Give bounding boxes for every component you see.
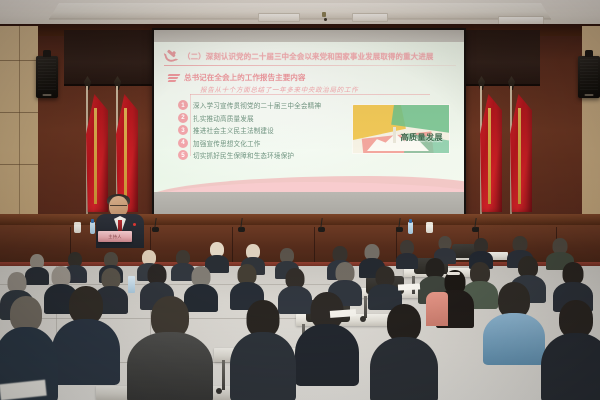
audience-member	[236, 300, 290, 400]
slide-illustration-label: 高质量发展	[401, 132, 444, 143]
tea-cup	[426, 224, 433, 233]
desk-leg	[222, 360, 225, 390]
ceiling-vent	[352, 13, 388, 22]
desk-caster	[360, 316, 366, 322]
audience-member	[548, 300, 600, 400]
ceiling-speck	[324, 18, 327, 21]
list-item-number: 2	[178, 113, 188, 123]
list-item-label: 深入学习宣传贯彻党的二十届三中全会精神	[193, 100, 321, 110]
list-item-label: 加强宣传思想文化工作	[193, 138, 260, 148]
nameplate: 主持人	[98, 231, 132, 242]
audience-member	[58, 286, 114, 382]
slide-note-rule	[190, 94, 430, 95]
list-item-label: 扎实推动高质量发展	[193, 113, 254, 123]
audience-member	[300, 292, 354, 384]
list-item: 1 深入学习宣传贯彻党的二十届三中全会精神	[178, 100, 321, 110]
ceiling-recess-panel	[49, 3, 552, 20]
party-emblem-icon	[164, 50, 179, 63]
wall-recess-right	[466, 30, 540, 86]
banner-icon	[168, 74, 180, 82]
list-item: 5 切实抓好民生保障和生态环境保护	[178, 150, 321, 160]
audience-member	[396, 240, 418, 266]
projection-screen: （二）深刻认识党的二十届三中全会以来党和国家事业发展取得的重大进展 总书记在全会…	[152, 28, 466, 224]
list-item-number: 3	[178, 125, 188, 135]
slide-list: 1 深入学习宣传贯彻党的二十届三中全会精神 2 扎实推动高质量发展 3 推进社会…	[178, 100, 321, 160]
list-item: 2 扎实推动高质量发展	[178, 113, 321, 123]
desk-caster	[216, 388, 222, 394]
audience-member	[138, 296, 202, 400]
water-bottle	[90, 222, 95, 234]
desk-leg	[364, 296, 367, 318]
ceiling-vent	[258, 13, 300, 22]
lapel-pin-icon	[133, 223, 136, 226]
water-bottle	[408, 222, 413, 234]
paper-sheet	[398, 283, 420, 290]
list-item-number: 1	[178, 100, 188, 110]
wall-speaker-icon	[36, 56, 58, 98]
water-bottle	[128, 276, 135, 293]
glasses-icon	[110, 205, 127, 209]
microphone	[238, 218, 245, 232]
slide-header: （二）深刻认识党的二十届三中全会以来党和国家事业发展取得的重大进展	[164, 49, 458, 64]
wall-speaker-icon	[578, 56, 600, 98]
list-item-label: 切实抓好民生保障和生态环境保护	[193, 150, 294, 160]
list-item: 3 推进社会主义民主法制建设	[178, 125, 321, 135]
slide-handwritten-note: 报告从十个方面总结了一年多来中央政治局的工作	[200, 84, 358, 94]
wall-recess-left	[64, 30, 152, 86]
slide-header-text: （二）深刻认识党的二十届三中全会以来党和国家事业发展取得的重大进展	[183, 51, 434, 62]
microphone	[152, 218, 159, 232]
projected-slide: （二）深刻认识党的二十届三中全会以来党和国家事业发展取得的重大进展 总书记在全会…	[154, 42, 464, 192]
microphone	[472, 218, 479, 232]
list-item: 4 加强宣传思想文化工作	[178, 138, 321, 148]
list-item-number: 4	[178, 138, 188, 148]
nameplate-text: 主持人	[108, 234, 121, 240]
slide-subheading: 总书记在全会上的工作报告主要内容	[168, 72, 306, 83]
list-item-label: 推进社会主义民主法制建设	[193, 125, 274, 135]
slide-header-rule	[164, 65, 456, 66]
audience-member	[376, 304, 432, 400]
slide-subheading-text: 总书记在全会上的工作报告主要内容	[184, 72, 306, 83]
slide-bottom-ribbon	[154, 170, 464, 192]
audience-member	[370, 266, 400, 306]
audience-member	[488, 282, 540, 360]
microphone	[318, 218, 325, 232]
screen-top-edge	[154, 30, 464, 42]
hair-clip-icon	[447, 272, 460, 275]
conference-hall-photo: （二）深刻认识党的二十届三中全会以来党和国家事业发展取得的重大进展 总书记在全会…	[0, 0, 600, 400]
list-item-number: 5	[178, 150, 188, 160]
ceiling-sensor-icon	[322, 12, 326, 17]
microphone	[396, 218, 403, 232]
slide-illustration: 高质量发展	[352, 104, 450, 154]
tea-cup	[74, 224, 81, 233]
